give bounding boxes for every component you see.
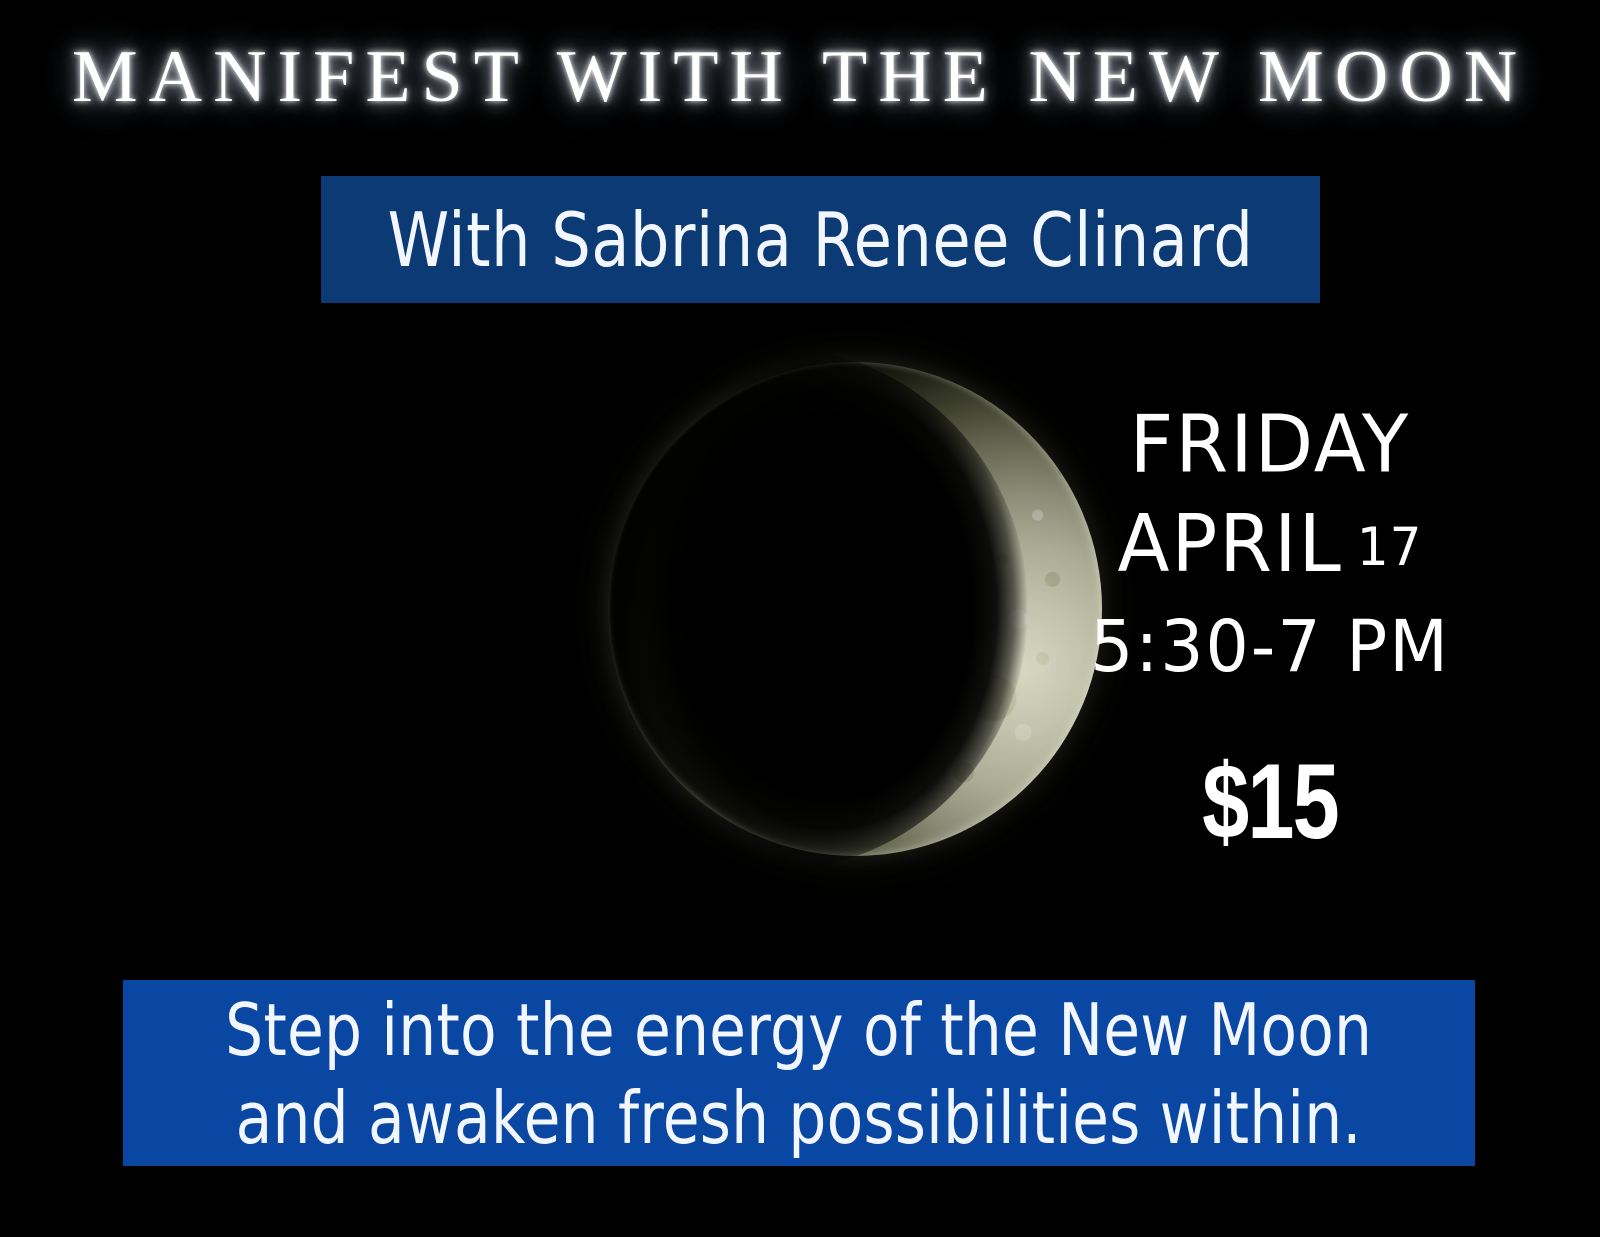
event-date: APRIL17 — [1060, 489, 1480, 601]
presenter-banner: With Sabrina Renee Clinard — [321, 176, 1320, 303]
tagline-banner: Step into the energy of the New Moon and… — [123, 980, 1475, 1166]
presenter-name: With Sabrina Renee Clinard — [388, 197, 1254, 282]
crescent-moon-icon — [608, 362, 1102, 856]
event-time: 5:30-7 PM — [1060, 597, 1480, 700]
event-day: FRIDAY — [1060, 394, 1480, 495]
event-day-number: 17 — [1357, 517, 1423, 578]
moon-disc — [608, 362, 1102, 856]
page-title: MANIFEST WITH THE NEW MOON — [0, 34, 1600, 120]
tagline-line-2: and awaken fresh possibilities within. — [236, 1069, 1362, 1169]
event-price: $15 — [1077, 744, 1463, 860]
poster-canvas: MANIFEST WITH THE NEW MOON With Sabrina … — [0, 0, 1600, 1237]
tagline-line-1: Step into the energy of the New Moon — [226, 981, 1373, 1081]
moon-crater-texture — [608, 362, 1102, 856]
event-month: APRIL — [1117, 497, 1342, 590]
event-details: FRIDAY APRIL17 5:30-7 PM — [1060, 396, 1480, 697]
moon-bright-limb — [608, 362, 1102, 856]
moon-terminator-shadow — [514, 347, 1028, 871]
